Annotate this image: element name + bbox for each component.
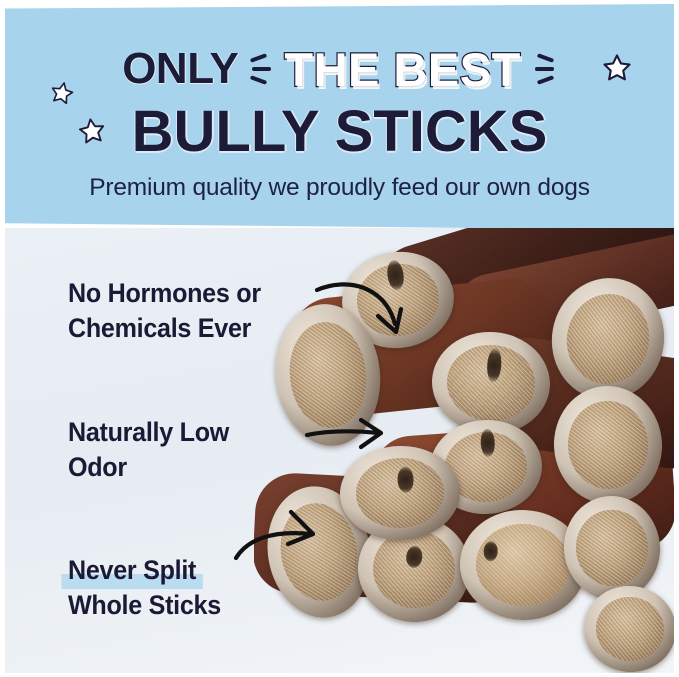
infographic-canvas: ONLY THE BEST BULLY STICKS Premium quali… [0, 0, 679, 677]
feature-label-2: Naturally Low Odor [68, 415, 229, 484]
headline-only: ONLY [122, 44, 238, 94]
feature-1-line-2: Chemicals Ever [68, 311, 261, 346]
feature-3-line-2: Whole Sticks [68, 588, 221, 623]
headline-the-best: THE BEST [284, 42, 520, 97]
headline-line-2: BULLY STICKS [5, 98, 674, 165]
feature-3-line-1: Never Split [68, 555, 196, 585]
feature-label-3: Never Split Whole Sticks [68, 553, 221, 622]
curved-arrow-down-right-icon [315, 280, 415, 350]
product-photo: No Hormones or Chemicals Ever Naturally … [5, 228, 674, 673]
header-banner: ONLY THE BEST BULLY STICKS Premium quali… [5, 4, 674, 230]
feature-2-line-2: Odor [68, 450, 229, 485]
curved-arrow-up-right-icon [233, 500, 333, 566]
sunburst-icon [248, 47, 274, 91]
headline-bully-sticks: BULLY STICKS [132, 99, 548, 164]
headline-line-1: ONLY THE BEST [5, 40, 674, 98]
feature-3-highlight: Never Split [68, 553, 196, 588]
feature-label-1: No Hormones or Chemicals Ever [68, 276, 261, 345]
header-subtitle: Premium quality we proudly feed our own … [5, 174, 674, 202]
feature-2-line-1: Naturally Low [68, 415, 229, 450]
sunburst-icon [531, 47, 557, 91]
straight-arrow-right-icon [305, 416, 395, 456]
feature-1-line-1: No Hormones or [68, 276, 261, 311]
